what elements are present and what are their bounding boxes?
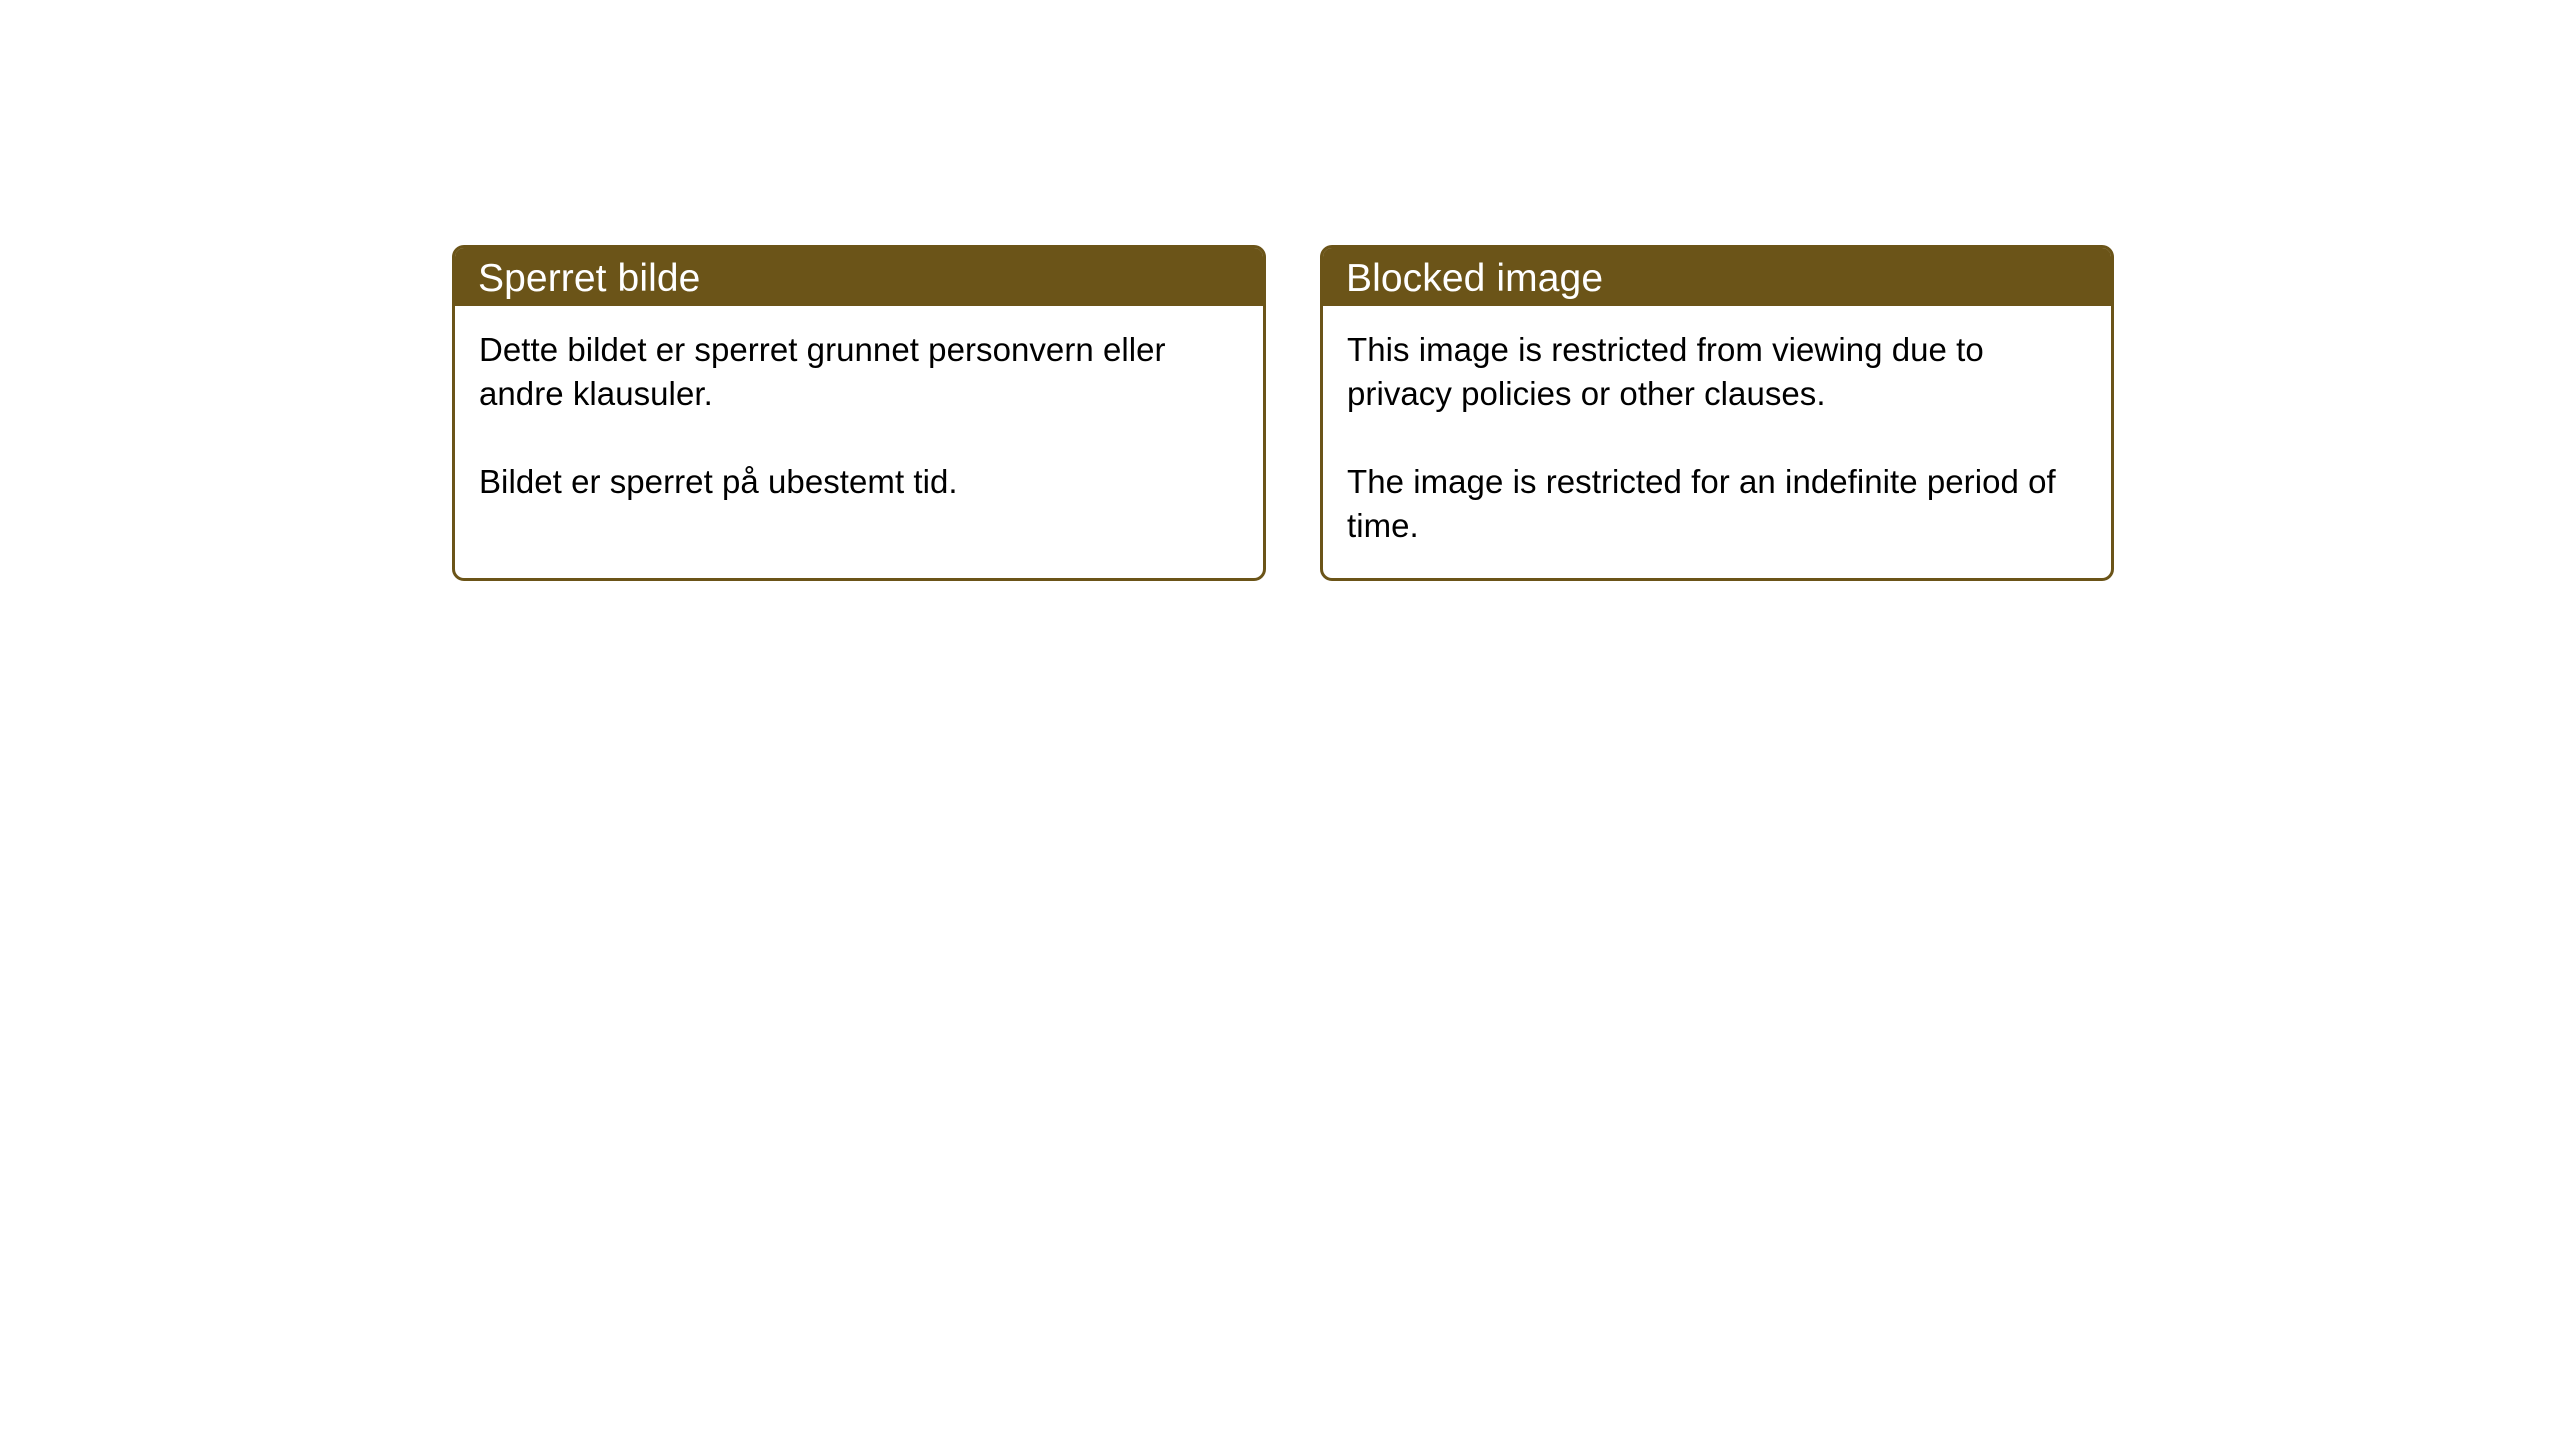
notice-header-no: Sperret bilde [455, 248, 1263, 306]
notice-title-no: Sperret bilde [478, 259, 700, 298]
blocked-image-notice-no: Sperret bilde Dette bildet er sperret gr… [452, 245, 1266, 581]
notice-body-en: This image is restricted from viewing du… [1323, 306, 2111, 548]
notice-header-en: Blocked image [1323, 248, 2111, 306]
notice-paragraph-secondary-en: The image is restricted for an indefinit… [1347, 460, 2087, 548]
page-canvas: Sperret bilde Dette bildet er sperret gr… [0, 0, 2560, 1440]
notice-paragraph-primary-no: Dette bildet er sperret grunnet personve… [479, 328, 1239, 416]
notice-body-no: Dette bildet er sperret grunnet personve… [455, 306, 1263, 504]
notice-paragraph-primary-en: This image is restricted from viewing du… [1347, 328, 2087, 416]
notice-title-en: Blocked image [1346, 259, 1603, 298]
blocked-image-notice-en: Blocked image This image is restricted f… [1320, 245, 2114, 581]
notice-paragraph-secondary-no: Bildet er sperret på ubestemt tid. [479, 460, 1239, 504]
